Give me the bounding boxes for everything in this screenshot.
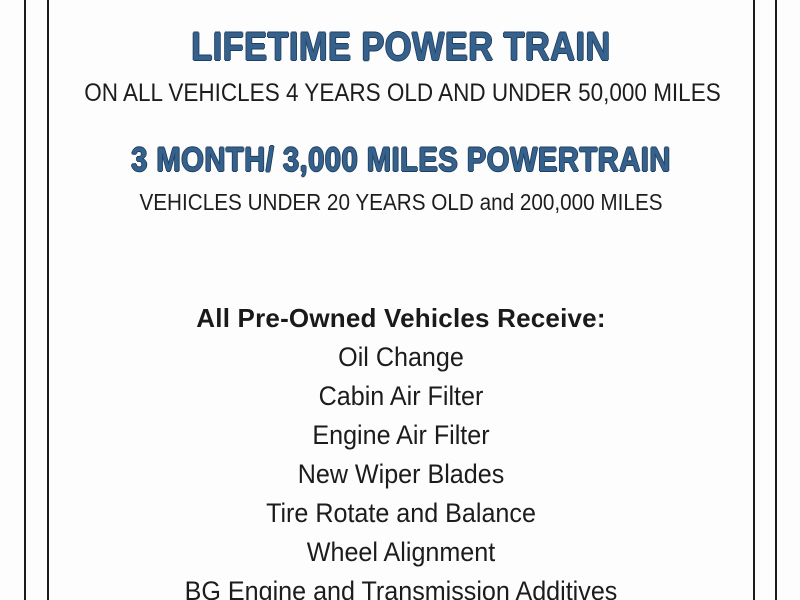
service-item: Wheel Alignment [74,533,729,572]
service-item: Oil Change [74,338,729,377]
border-rule-right-inner [753,0,755,600]
services-section: All Pre-Owned Vehicles Receive: Oil Chan… [49,299,753,600]
warranty-title-lifetime-powertrain: LIFETIME POWER TRAIN [98,27,703,67]
services-heading: All Pre-Owned Vehicles Receive: [49,299,753,338]
service-item: New Wiper Blades [74,455,729,494]
border-rule-right-outer [775,0,777,600]
border-rule-left-outer [24,0,26,600]
service-item: Engine Air Filter [74,416,729,455]
warranty-subtitle-3month-powertrain: VEHICLES UNDER 20 YEARS OLD and 200,000 … [84,191,718,214]
service-item: Tire Rotate and Balance [74,494,729,533]
warranty-subtitle-lifetime-powertrain: ON ALL VEHICLES 4 YEARS OLD AND UNDER 50… [84,81,718,106]
flyer-content: LIFETIME POWER TRAIN ON ALL VEHICLES 4 Y… [49,0,753,600]
warranty-title-3month-powertrain: 3 MONTH/ 3,000 MILES POWERTRAIN [98,143,703,177]
service-item: Cabin Air Filter [74,377,729,416]
service-item: BG Engine and Transmission Additives [74,572,729,600]
warranty-flyer: LIFETIME POWER TRAIN ON ALL VEHICLES 4 Y… [0,0,800,600]
